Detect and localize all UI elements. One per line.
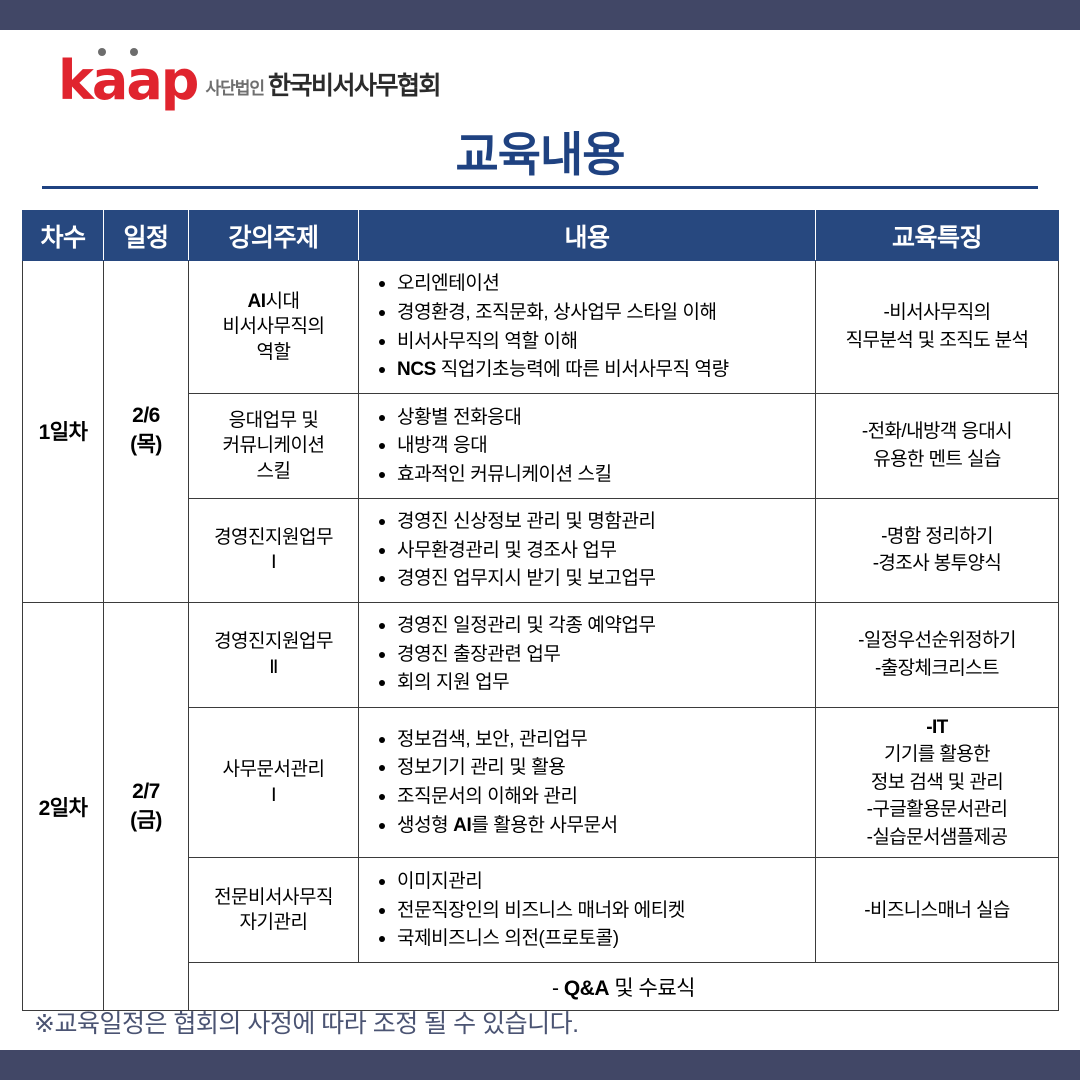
date-line-1: 2/6: [132, 404, 160, 427]
qa-rest: 및 수료식: [609, 977, 695, 1000]
column-header-subject: 강의주제: [189, 211, 359, 261]
list-item: 정보검색, 보안, 관리업무: [375, 726, 809, 754]
logo-dot-right-icon: [130, 48, 138, 56]
subject-era-label: 시대: [266, 291, 300, 312]
cell-subject: 경영진지원업무 Ⅱ: [189, 602, 359, 707]
list-item: 전문직장인의 비즈니스 매너와 에티켓: [375, 897, 809, 925]
list-item: 국제비즈니스 의전(프로토콜): [375, 925, 809, 953]
list-item: 조직문서의 이해와 관리: [375, 783, 809, 811]
feature-line-3: -구글활용문서관리: [820, 796, 1054, 824]
feature-line-2: -출장체크리스트: [820, 655, 1054, 683]
table-row: 2일차 2/7 (금) 경영진지원업무 Ⅱ 경영진 일정관리 및 각종 예약업무…: [23, 602, 1059, 707]
column-header-content: 내용: [359, 211, 816, 261]
content-list: 경영진 일정관리 및 각종 예약업무 경영진 출장관련 업무 회의 지원 업무: [375, 612, 809, 697]
date-line-1: 2/7: [132, 780, 160, 803]
subject-roman-numeral: Ⅱ: [193, 655, 354, 681]
subject-line-2: 비서사무직의: [193, 314, 354, 340]
subject-line-1: 전문비서사무직: [193, 885, 354, 911]
cell-content: 오리엔테이션 경영환경, 조직문화, 상사업무 스타일 이해 비서사무직의 역할…: [359, 261, 816, 394]
subject-roman-numeral: Ⅰ: [193, 550, 354, 576]
subject-line-1: 응대업무 및: [193, 408, 354, 434]
list-item: 경영진 업무지시 받기 및 보고업무: [375, 565, 809, 593]
list-item: 오리엔테이션: [375, 270, 809, 298]
cell-feature: -일정우선순위정하기 -출장체크리스트: [816, 602, 1059, 707]
cell-date-2: 2/7 (금): [104, 602, 189, 1011]
it-label: -IT: [820, 714, 1054, 742]
list-item: 경영환경, 조직문화, 상사업무 스타일 이해: [375, 299, 809, 327]
subject-ai-label: AI: [248, 291, 266, 312]
content-list: 정보검색, 보안, 관리업무 정보기기 관리 및 활용 조직문서의 이해와 관리…: [375, 726, 809, 839]
cell-day-2: 2일차: [23, 602, 104, 1011]
date-line-2: (목): [104, 428, 188, 458]
cell-feature: -비즈니스매너 실습: [816, 858, 1059, 963]
cell-content: 정보검색, 보안, 관리업무 정보기기 관리 및 활용 조직문서의 이해와 관리…: [359, 707, 816, 858]
feature-line-1: -일정우선순위정하기: [820, 627, 1054, 655]
logo-dot-left-icon: [98, 48, 106, 56]
cell-content: 상황별 전화응대 내방객 응대 효과적인 커뮤니케이션 스킬: [359, 394, 816, 499]
footer-note: ※교육일정은 협회의 사정에 따라 조정 될 수 있습니다.: [34, 1004, 579, 1040]
feature-line-2: 직무분석 및 조직도 분석: [820, 327, 1054, 355]
ncs-label: NCS: [397, 359, 436, 380]
ai-label: AI: [453, 815, 471, 836]
table-row: 1일차 2/6 (목) AI시대 비서사무직의 역할 오리엔테이션 경영환경, …: [23, 261, 1059, 394]
poster-page: kaap 사단법인 한국비서사무협회 교육내용 차수 일정 강의주제 내용 교육…: [0, 0, 1080, 1080]
list-item: NCS 직업기초능력에 따른 비서사무직 역량: [375, 356, 809, 384]
cell-content: 경영진 신상정보 관리 및 명함관리 사무환경관리 및 경조사 업무 경영진 업…: [359, 499, 816, 603]
list-item: 경영진 신상정보 관리 및 명함관리: [375, 508, 809, 536]
cell-feature: -비서사무직의 직무분석 및 조직도 분석: [816, 261, 1059, 394]
cell-feature: -전화/내방객 응대시 유용한 멘트 실습: [816, 394, 1059, 499]
it-rest: 기기를 활용한: [820, 741, 1054, 769]
curriculum-table: 차수 일정 강의주제 내용 교육특징 1일차 2/6 (목) AI시대 비서사무…: [22, 210, 1059, 1011]
feature-line-2: 정보 검색 및 관리: [820, 769, 1054, 797]
page-title: 교육내용: [0, 116, 1080, 185]
subject-line-2: 자기관리: [193, 910, 354, 936]
cell-date-1: 2/6 (목): [104, 261, 189, 603]
qa-label: Q&A: [564, 977, 609, 1000]
logo-wordmark-text: kaap: [58, 49, 197, 112]
column-header-date: 일정: [104, 211, 189, 261]
logo-subtitle: 사단법인 한국비서사무협회: [205, 66, 440, 108]
cell-subject: 경영진지원업무 Ⅰ: [189, 499, 359, 603]
content-list: 상황별 전화응대 내방객 응대 효과적인 커뮤니케이션 스킬: [375, 404, 809, 489]
top-decorative-bar: [0, 0, 1080, 30]
content-list: 경영진 신상정보 관리 및 명함관리 사무환경관리 및 경조사 업무 경영진 업…: [375, 508, 809, 593]
cell-subject: 전문비서사무직 자기관리: [189, 858, 359, 963]
feature-line-2: 유용한 멘트 실습: [820, 446, 1054, 474]
cell-content: 경영진 일정관리 및 각종 예약업무 경영진 출장관련 업무 회의 지원 업무: [359, 602, 816, 707]
column-header-session: 차수: [23, 211, 104, 261]
cell-subject: AI시대 비서사무직의 역할: [189, 261, 359, 394]
feature-line-1: -전화/내방객 응대시: [820, 418, 1054, 446]
date-line-2: (금): [104, 804, 188, 834]
ncs-rest: 직업기초능력에 따른 비서사무직 역량: [436, 359, 729, 380]
cell-feature: -IT기기를 활용한 정보 검색 및 관리 -구글활용문서관리 -실습문서샘플제…: [816, 707, 1059, 858]
list-item: 비서사무직의 역할 이해: [375, 328, 809, 356]
feature-line-1: -비즈니스매너 실습: [820, 897, 1054, 925]
feature-line-1: -명함 정리하기: [820, 523, 1054, 551]
cell-day-1: 1일차: [23, 261, 104, 603]
list-item: 정보기기 관리 및 활용: [375, 754, 809, 782]
subject-line-1: 경영진지원업무: [193, 525, 354, 551]
qa-prefix: -: [552, 977, 564, 1000]
feature-line-1: -IT기기를 활용한: [820, 714, 1054, 769]
feature-line-1: -비서사무직의: [820, 299, 1054, 327]
subject-line-3: 스킬: [193, 459, 354, 485]
list-item: 상황별 전화응대: [375, 404, 809, 432]
title-divider: [42, 186, 1038, 189]
table-header-row: 차수 일정 강의주제 내용 교육특징: [23, 211, 1059, 261]
subject-line-1: 사무문서관리: [193, 757, 354, 783]
subject-line-2: 커뮤니케이션: [193, 433, 354, 459]
cell-feature: -명함 정리하기 -경조사 봉투양식: [816, 499, 1059, 603]
cell-content: 이미지관리 전문직장인의 비즈니스 매너와 에티켓 국제비즈니스 의전(프로토콜…: [359, 858, 816, 963]
content-list: 오리엔테이션 경영환경, 조직문화, 상사업무 스타일 이해 비서사무직의 역할…: [375, 270, 809, 383]
cell-subject: 사무문서관리 Ⅰ: [189, 707, 359, 858]
feature-line-4: -실습문서샘플제공: [820, 824, 1054, 852]
list-item: 경영진 일정관리 및 각종 예약업무: [375, 612, 809, 640]
cell-subject: 응대업무 및 커뮤니케이션 스킬: [189, 394, 359, 499]
list-item: 내방객 응대: [375, 432, 809, 460]
list-item: 이미지관리: [375, 868, 809, 896]
feature-line-2: -경조사 봉투양식: [820, 550, 1054, 578]
subject-roman-numeral: Ⅰ: [193, 783, 354, 809]
logo-prefix-text: 사단법인: [205, 74, 264, 99]
list-item: 사무환경관리 및 경조사 업무: [375, 537, 809, 565]
list-item: 회의 지원 업무: [375, 669, 809, 697]
bottom-decorative-bar: [0, 1050, 1080, 1080]
logo-org-name: 한국비서사무협회: [268, 66, 440, 102]
logo-wordmark: kaap: [58, 54, 197, 108]
list-item: 경영진 출장관련 업무: [375, 641, 809, 669]
subject-line-1: 경영진지원업무: [193, 629, 354, 655]
brand-logo: kaap 사단법인 한국비서사무협회: [58, 54, 440, 108]
list-item: 생성형 AI를 활용한 사무문서: [375, 812, 809, 840]
genai-rest: 를 활용한 사무문서: [471, 815, 617, 836]
column-header-feature: 교육특징: [816, 211, 1059, 261]
genai-prefix: 생성형: [397, 815, 453, 836]
content-list: 이미지관리 전문직장인의 비즈니스 매너와 에티켓 국제비즈니스 의전(프로토콜…: [375, 868, 809, 953]
list-item: 효과적인 커뮤니케이션 스킬: [375, 461, 809, 489]
subject-line-3: 역할: [193, 340, 354, 366]
